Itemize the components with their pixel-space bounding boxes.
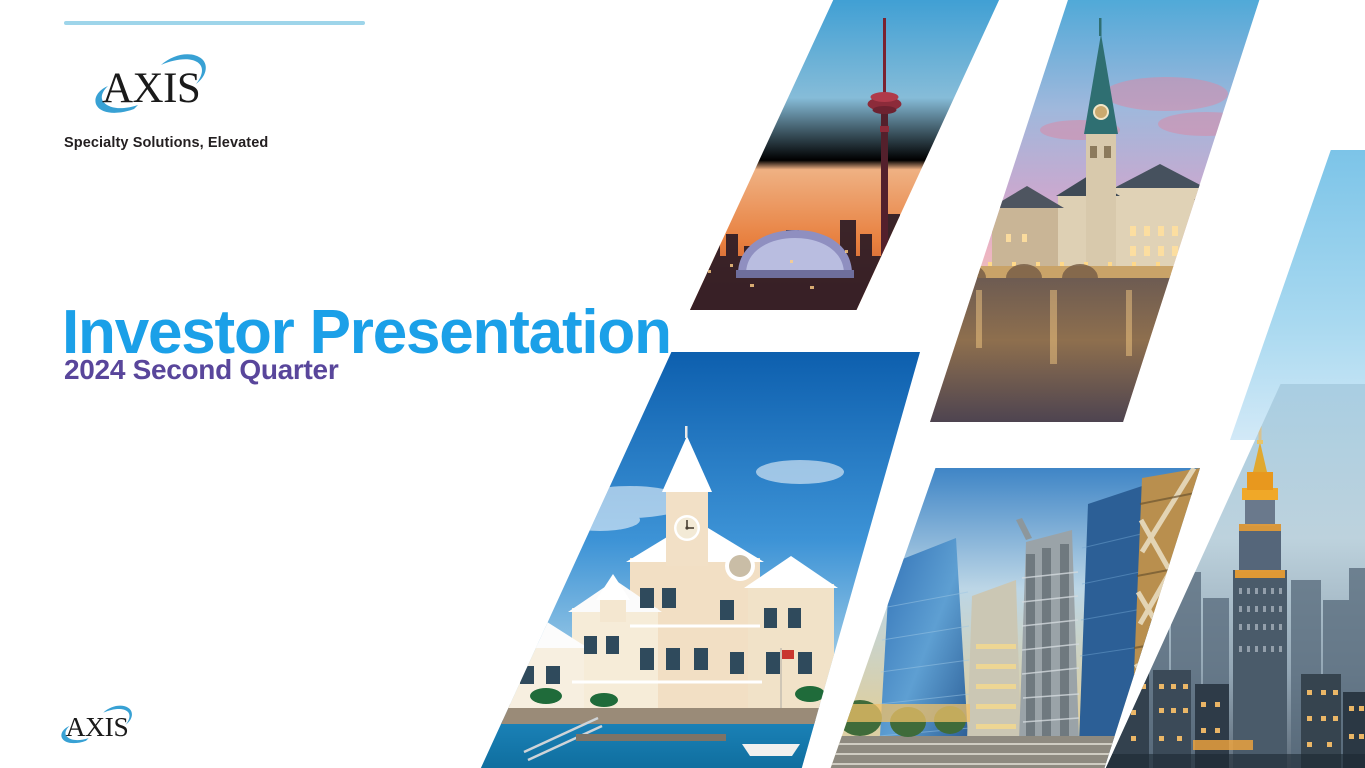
svg-text:AXIS: AXIS bbox=[102, 65, 200, 112]
svg-text:AXIS: AXIS bbox=[66, 712, 129, 742]
photo-panel-bermuda bbox=[480, 352, 920, 768]
photo-panel-zurich bbox=[930, 0, 1260, 422]
top-accent-rule bbox=[64, 21, 365, 25]
axis-logo: AXIS bbox=[86, 50, 210, 122]
brand-tagline: Specialty Solutions, Elevated bbox=[64, 135, 268, 151]
axis-logo-footer: AXIS bbox=[55, 703, 135, 749]
investor-presentation-slide: AXIS Specialty Solutions, Elevated Inves… bbox=[0, 0, 1365, 768]
page-subtitle: 2024 Second Quarter bbox=[64, 354, 338, 386]
photo-panel-london bbox=[830, 468, 1200, 768]
photo-panel-toronto bbox=[690, 0, 1000, 310]
photo-panel-sky bbox=[1230, 150, 1365, 440]
photo-panel-newyork bbox=[1105, 384, 1365, 768]
